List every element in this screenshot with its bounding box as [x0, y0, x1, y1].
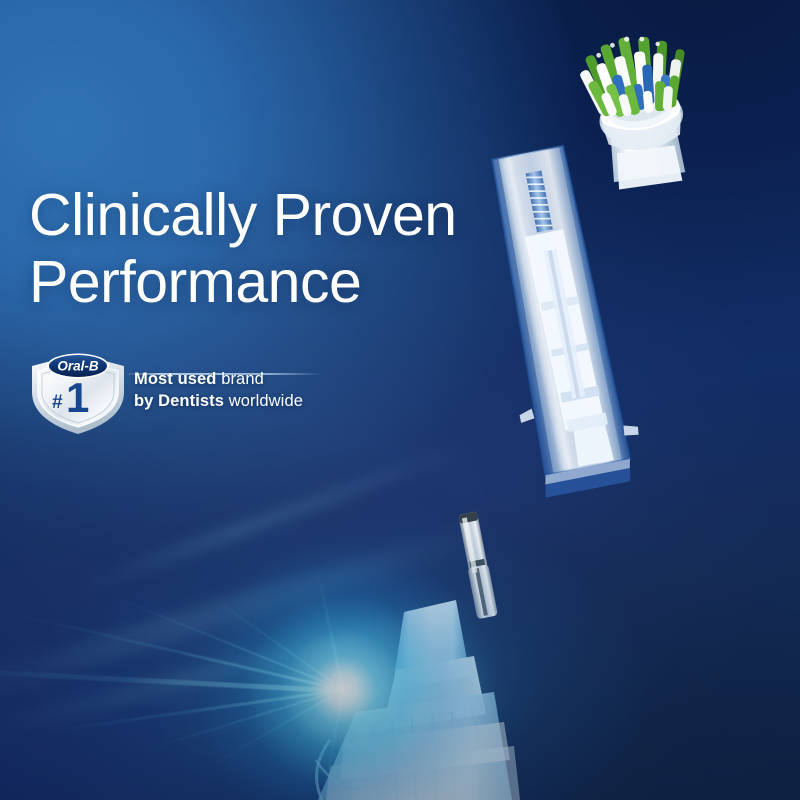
page-title: Clinically Proven Performance [29, 182, 457, 315]
claim-line-2: by Dentists worldwide [134, 390, 303, 412]
rank-hash: # [52, 392, 63, 413]
headline-line-2: Performance [29, 249, 457, 316]
claim-text: Most used brand by Dentists worldwide [134, 368, 303, 413]
headline-line-1: Clinically Proven [29, 182, 457, 249]
oral-b-logo-text: Oral-B [57, 359, 99, 374]
shield-icon: Oral-B # 1 [26, 348, 130, 436]
promo-banner: Clinically Proven Performance [0, 0, 800, 800]
claim-line-1-bold: Most used [134, 370, 217, 388]
claim-line-2-bold: by Dentists [134, 392, 224, 410]
claim-line-2-regular: worldwide [229, 392, 303, 410]
rank-number: 1 [66, 374, 89, 421]
dentist-claim-badge: Oral-B # 1 Most used brand by Dentists w… [26, 348, 130, 436]
claim-line-1-regular: brand [221, 370, 264, 388]
claim-line-1: Most used brand [134, 368, 303, 390]
